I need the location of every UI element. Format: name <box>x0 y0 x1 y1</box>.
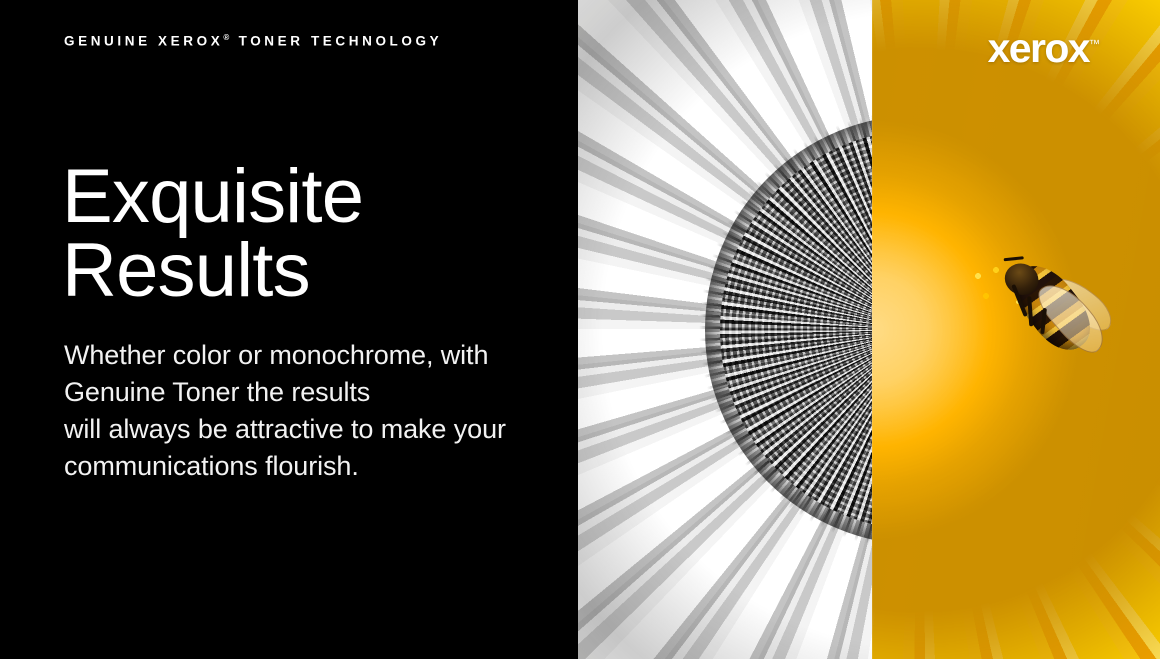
xerox-logo: xerox™ <box>988 28 1100 69</box>
mono-color-split-seam <box>872 0 873 659</box>
eyebrow-text-after: TONER TECHNOLOGY <box>231 34 442 49</box>
bee-antenna <box>1004 256 1024 261</box>
xerox-wordmark: xerox <box>988 25 1089 71</box>
left-content-panel: GENUINE XEROX® TONER TECHNOLOGY Exquisit… <box>0 0 578 659</box>
page-title: Exquisite Results <box>62 160 363 307</box>
subcopy-text: Whether color or monochrome, with Genuin… <box>64 337 506 485</box>
promo-banner: GENUINE XEROX® TONER TECHNOLOGY Exquisit… <box>0 0 1160 659</box>
eyebrow-text-before: GENUINE XEROX <box>64 34 223 49</box>
trademark-icon: ™ <box>1089 38 1100 50</box>
eyebrow-text: GENUINE XEROX® TONER TECHNOLOGY <box>64 34 442 48</box>
sunflower-photo <box>578 0 1160 659</box>
